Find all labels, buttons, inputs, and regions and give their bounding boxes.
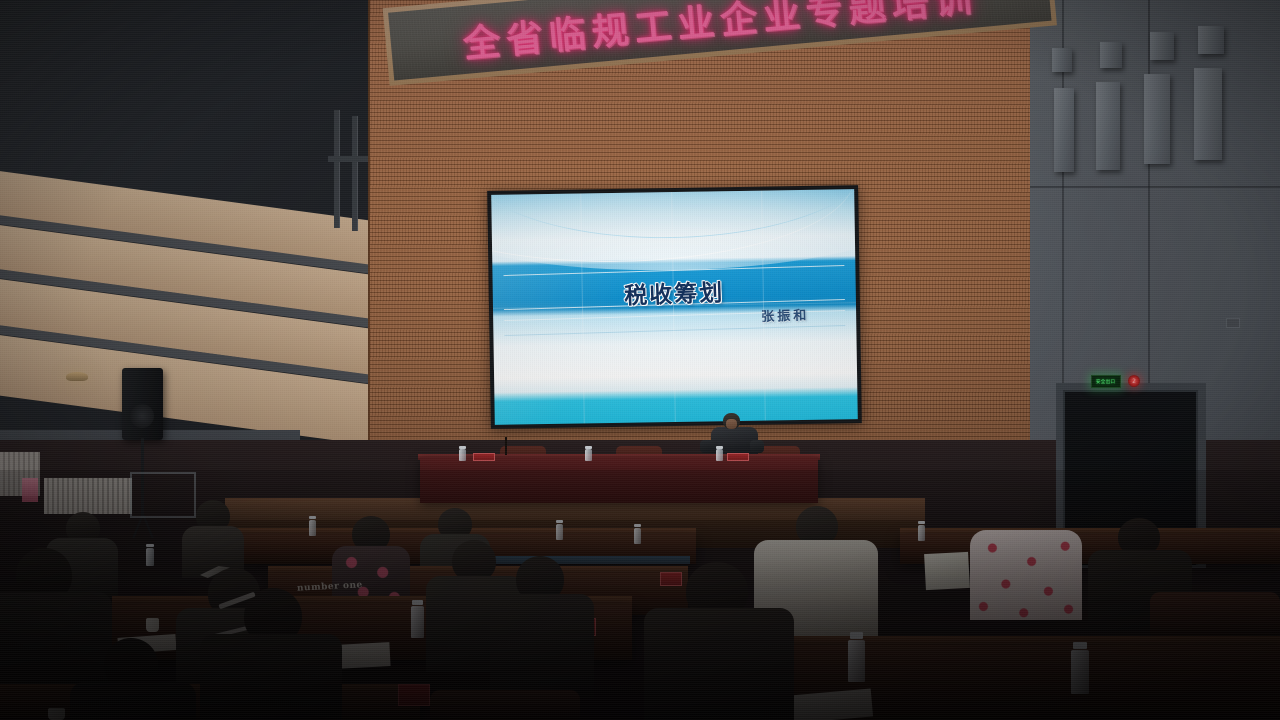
bottle-cap (309, 516, 316, 519)
acoustic-fin (1150, 32, 1174, 60)
notebook-paper (924, 552, 970, 590)
water-bottle (585, 449, 592, 461)
bottle-cap (918, 521, 925, 524)
conference-hall-photo: 全省临规工业企业专题培训 税收筹划 张振和 (0, 0, 1280, 720)
water-bottle (411, 606, 424, 638)
speaker-cone (130, 404, 154, 428)
seat-back (430, 690, 580, 720)
presentation-slide: 税收筹划 张振和 (491, 189, 858, 425)
exit-sign: 安全出口 (1091, 375, 1121, 388)
head-table (420, 457, 818, 503)
name-placard (727, 453, 749, 461)
video-wall: 税收筹划 张振和 (487, 185, 862, 429)
wall-seam (1030, 186, 1280, 188)
water-bottle (634, 528, 641, 544)
bottle-cap (850, 632, 863, 639)
seat-number-placard (398, 684, 430, 706)
acoustic-fin (334, 110, 340, 228)
acoustic-fin (1100, 42, 1122, 68)
led-banner-screen: 全省临规工业企业专题培训 (388, 0, 1051, 80)
slide-author: 张振和 (761, 304, 810, 325)
led-banner-text: 全省临规工业企业专题培训 (461, 0, 980, 68)
indicator-light: 2 (1128, 375, 1140, 387)
acoustic-fin (1054, 88, 1074, 172)
slide-rule-line (504, 325, 845, 336)
water-bottle (556, 524, 563, 540)
bottle-cap (634, 524, 641, 527)
equipment-frame (130, 472, 196, 518)
person-torso (490, 594, 594, 698)
wall-outlet (1226, 318, 1240, 328)
water-bottle (1071, 650, 1089, 694)
person-torso (644, 608, 794, 720)
bottle-cap (412, 600, 423, 605)
water-bottle (716, 449, 723, 461)
paper-cup (48, 708, 65, 720)
water-bottle (309, 520, 316, 536)
paper-cup (146, 618, 159, 632)
decor-box (22, 478, 38, 502)
water-bottle (918, 525, 925, 541)
water-bottle (848, 640, 865, 682)
radiator (44, 478, 132, 514)
presenter-arm (750, 440, 764, 453)
water-bottle (459, 449, 466, 461)
loudspeaker (122, 368, 163, 440)
water-bottle (146, 548, 154, 566)
acoustic-fin (1096, 82, 1120, 170)
bottle-cap (585, 446, 592, 449)
acoustic-fin (1194, 68, 1222, 160)
exit-sign-label: 安全出口 (1096, 378, 1116, 384)
bottle-cap (556, 520, 563, 523)
bottle-cap (459, 446, 466, 449)
bottle-cap (1073, 642, 1087, 649)
person-torso (200, 634, 342, 720)
led-banner-frame: 全省临规工业企业专题培训 (383, 0, 1057, 86)
seat-number-placard (660, 572, 682, 586)
wall-sconce-light (66, 372, 88, 381)
presenter-face (726, 419, 737, 429)
acoustic-fin (1144, 74, 1170, 164)
seat-back (1150, 592, 1280, 636)
person-torso (70, 682, 196, 720)
acoustic-fin (352, 116, 358, 231)
bottle-cap (716, 446, 723, 449)
name-placard (473, 453, 495, 461)
acoustic-fin (1198, 26, 1224, 54)
person-torso (970, 530, 1082, 620)
microphone-stem (505, 437, 507, 455)
bottle-cap (146, 544, 154, 547)
desk-surface (470, 556, 690, 564)
